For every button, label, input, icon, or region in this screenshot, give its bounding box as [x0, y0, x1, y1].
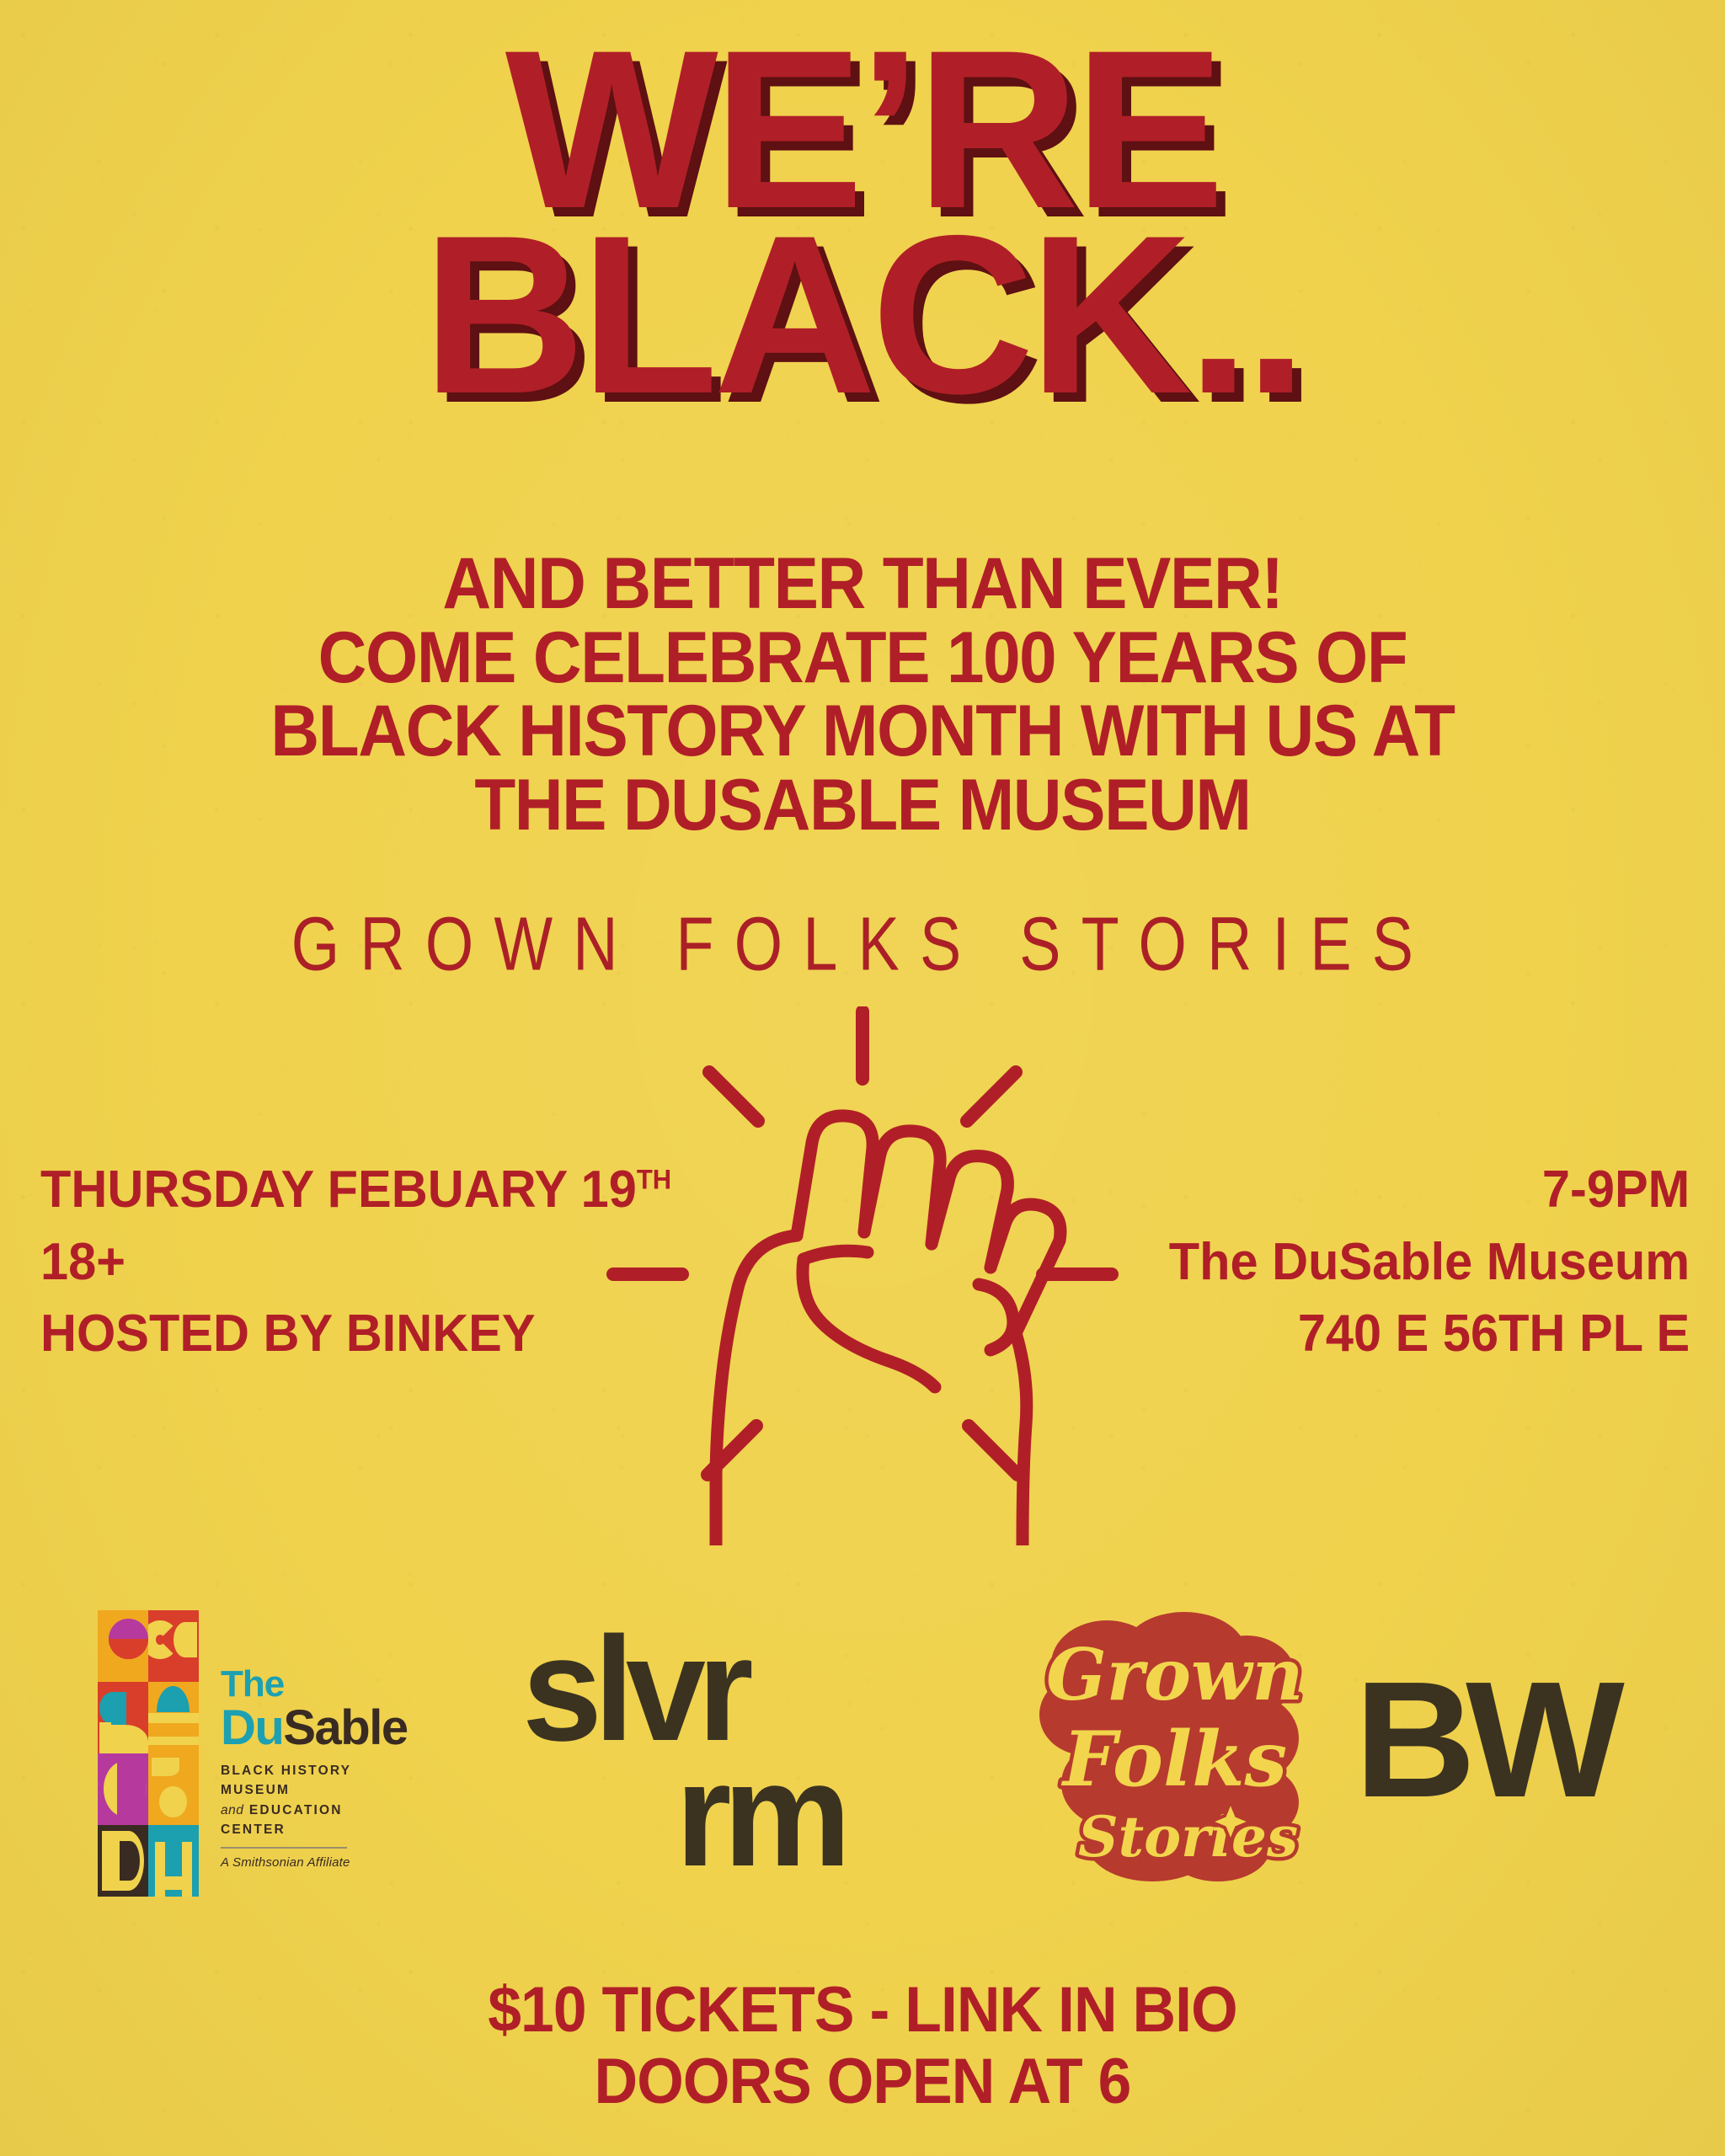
sponsor-logo-row: The DuSable BLACK HISTORY MUSEUM and EDU…: [0, 1558, 1725, 1912]
event-venue: The DuSable Museum: [1169, 1226, 1690, 1299]
gfs-line-3: Stories: [1078, 1804, 1298, 1870]
event-details-row: THURSDAY FEBUARY 19TH 18+ HOSTED BY BINK…: [0, 1145, 1725, 1499]
doors-open-line: DOORS OPEN AT 6: [51, 2046, 1673, 2117]
subheadline-line-2: COME CELEBRATE 100 YEARS OF: [61, 622, 1665, 696]
dusable-and-text: and: [221, 1803, 243, 1817]
event-poster: WE’RE BLACK.. AND BETTER THAN EVER! COME…: [0, 0, 1725, 2156]
series-name-kicker: GROWN FOLKS STORIES: [26, 901, 1700, 988]
mark-cell-5: [98, 1753, 148, 1825]
event-address: 740 E 56TH PL E: [1169, 1298, 1690, 1370]
mark-cell-7: [98, 1825, 148, 1897]
event-details-left: THURSDAY FEBUARY 19TH 18+ HOSTED BY BINK…: [40, 1154, 671, 1370]
mark-cell-4: [148, 1682, 199, 1753]
dusable-subtitle-line-2: and EDUCATION CENTER: [221, 1801, 389, 1840]
headline-block: WE’RE BLACK..: [0, 39, 1725, 405]
dusable-sable-text: Sable: [283, 1700, 407, 1755]
slvr-rm-logo: slvr rm: [522, 1630, 848, 1876]
dusable-du-text: Du: [221, 1700, 283, 1755]
event-date: THURSDAY FEBUARY 19TH: [40, 1154, 671, 1226]
event-age-restriction: 18+: [40, 1226, 671, 1299]
mark-cell-3: [98, 1682, 148, 1753]
dusable-affiliate-text: A Smithsonian Affiliate: [221, 1855, 389, 1870]
subheadline-line-3: BLACK HISTORY MONTH WITH US AT: [61, 695, 1665, 769]
dusable-wordmark-logo: The DuSable BLACK HISTORY MUSEUM and EDU…: [221, 1666, 389, 1870]
gfs-line-1: Grown: [1046, 1633, 1303, 1716]
subheadline-line-1: AND BETTER THAN EVER!: [61, 547, 1665, 622]
bw-logo: BW: [1354, 1666, 1615, 1814]
grown-folks-stories-logo: Grown Folks Stories: [1026, 1573, 1312, 1902]
slvr-text: slvr: [522, 1630, 838, 1749]
rm-text: rm: [676, 1754, 843, 1876]
mark-cell-2: [148, 1610, 199, 1682]
dusable-geometric-mark-logo: [98, 1610, 199, 1897]
event-details-right: 7-9PM The DuSable Museum 740 E 56TH PL E: [1169, 1154, 1690, 1370]
event-date-text: THURSDAY FEBUARY 19: [40, 1161, 637, 1219]
dusable-divider: [221, 1847, 347, 1849]
ticket-price-line: $10 TICKETS - LINK IN BIO: [51, 1974, 1673, 2046]
event-date-ordinal: TH: [637, 1164, 671, 1194]
mark-cell-6: [148, 1753, 199, 1825]
gfs-line-2: Folks: [1060, 1715, 1287, 1804]
event-host: HOSTED BY BINKEY: [40, 1298, 671, 1370]
headline-line-2: BLACK..: [0, 224, 1725, 404]
subheadline-line-4: THE DUSABLE MUSEUM: [61, 769, 1665, 843]
mark-cell-8: [148, 1825, 199, 1897]
dusable-subtitle: BLACK HISTORY MUSEUM and EDUCATION CENTE…: [221, 1761, 389, 1839]
dusable-name-text: DuSable: [221, 1703, 389, 1753]
dusable-the-text: The: [221, 1666, 389, 1703]
subheadline-block: AND BETTER THAN EVER! COME CELEBRATE 100…: [61, 547, 1665, 843]
mark-cell-1: [98, 1610, 148, 1682]
ticket-footer: $10 TICKETS - LINK IN BIO DOORS OPEN AT …: [51, 1974, 1673, 2117]
dusable-subtitle-line-1: BLACK HISTORY MUSEUM: [221, 1761, 389, 1801]
event-time: 7-9PM: [1169, 1154, 1690, 1226]
